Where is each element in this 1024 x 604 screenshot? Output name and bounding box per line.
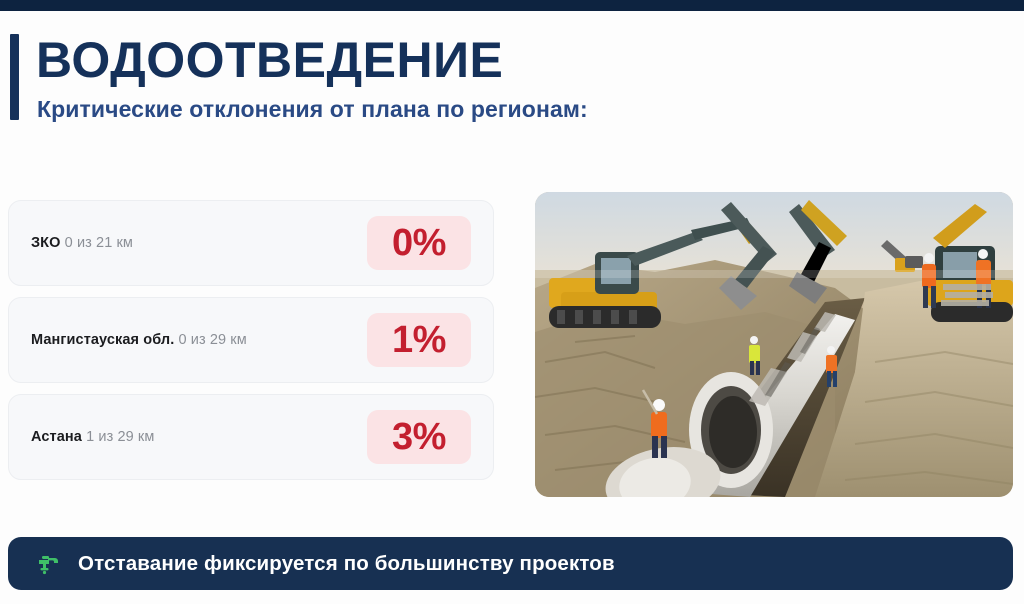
region-detail: 0 из 29 км: [178, 332, 246, 348]
region-name: ЗКО: [31, 235, 61, 251]
region-card[interactable]: Мангистауская обл. 0 из 29 км 1%: [8, 297, 494, 383]
page-header: ВОДООТВЕДЕНИЕ Критические отклонения от …: [0, 11, 1024, 176]
region-detail: 0 из 21 км: [65, 235, 133, 251]
region-name: Астана: [31, 429, 82, 445]
region-percent-badge: 0%: [367, 216, 471, 270]
water-tap-icon: [36, 553, 62, 575]
construction-photo-illustration: [535, 192, 1013, 497]
region-percent-badge: 3%: [367, 410, 471, 464]
region-card-label: Астана 1 из 29 км: [31, 429, 154, 445]
page-subtitle: Критические отклонения от плана по регио…: [37, 96, 588, 123]
region-card[interactable]: Астана 1 из 29 км 3%: [8, 394, 494, 480]
region-card[interactable]: ЗКО 0 из 21 км 0%: [8, 200, 494, 286]
footer-message: Отставание фиксируется по большинству пр…: [78, 552, 615, 576]
region-card-label: Мангистауская обл. 0 из 29 км: [31, 332, 247, 348]
page-title: ВОДООТВЕДЕНИЕ: [36, 34, 503, 87]
construction-photo: [535, 192, 1013, 497]
region-card-list: ЗКО 0 из 21 км 0% Мангистауская обл. 0 и…: [8, 200, 494, 491]
region-percent-badge: 1%: [367, 313, 471, 367]
top-accent-strip: [0, 0, 1024, 11]
title-accent-bar: [10, 34, 19, 120]
region-name: Мангистауская обл.: [31, 332, 174, 348]
footer-banner: Отставание фиксируется по большинству пр…: [8, 537, 1013, 590]
region-detail: 1 из 29 км: [86, 429, 154, 445]
region-card-label: ЗКО 0 из 21 км: [31, 235, 133, 251]
